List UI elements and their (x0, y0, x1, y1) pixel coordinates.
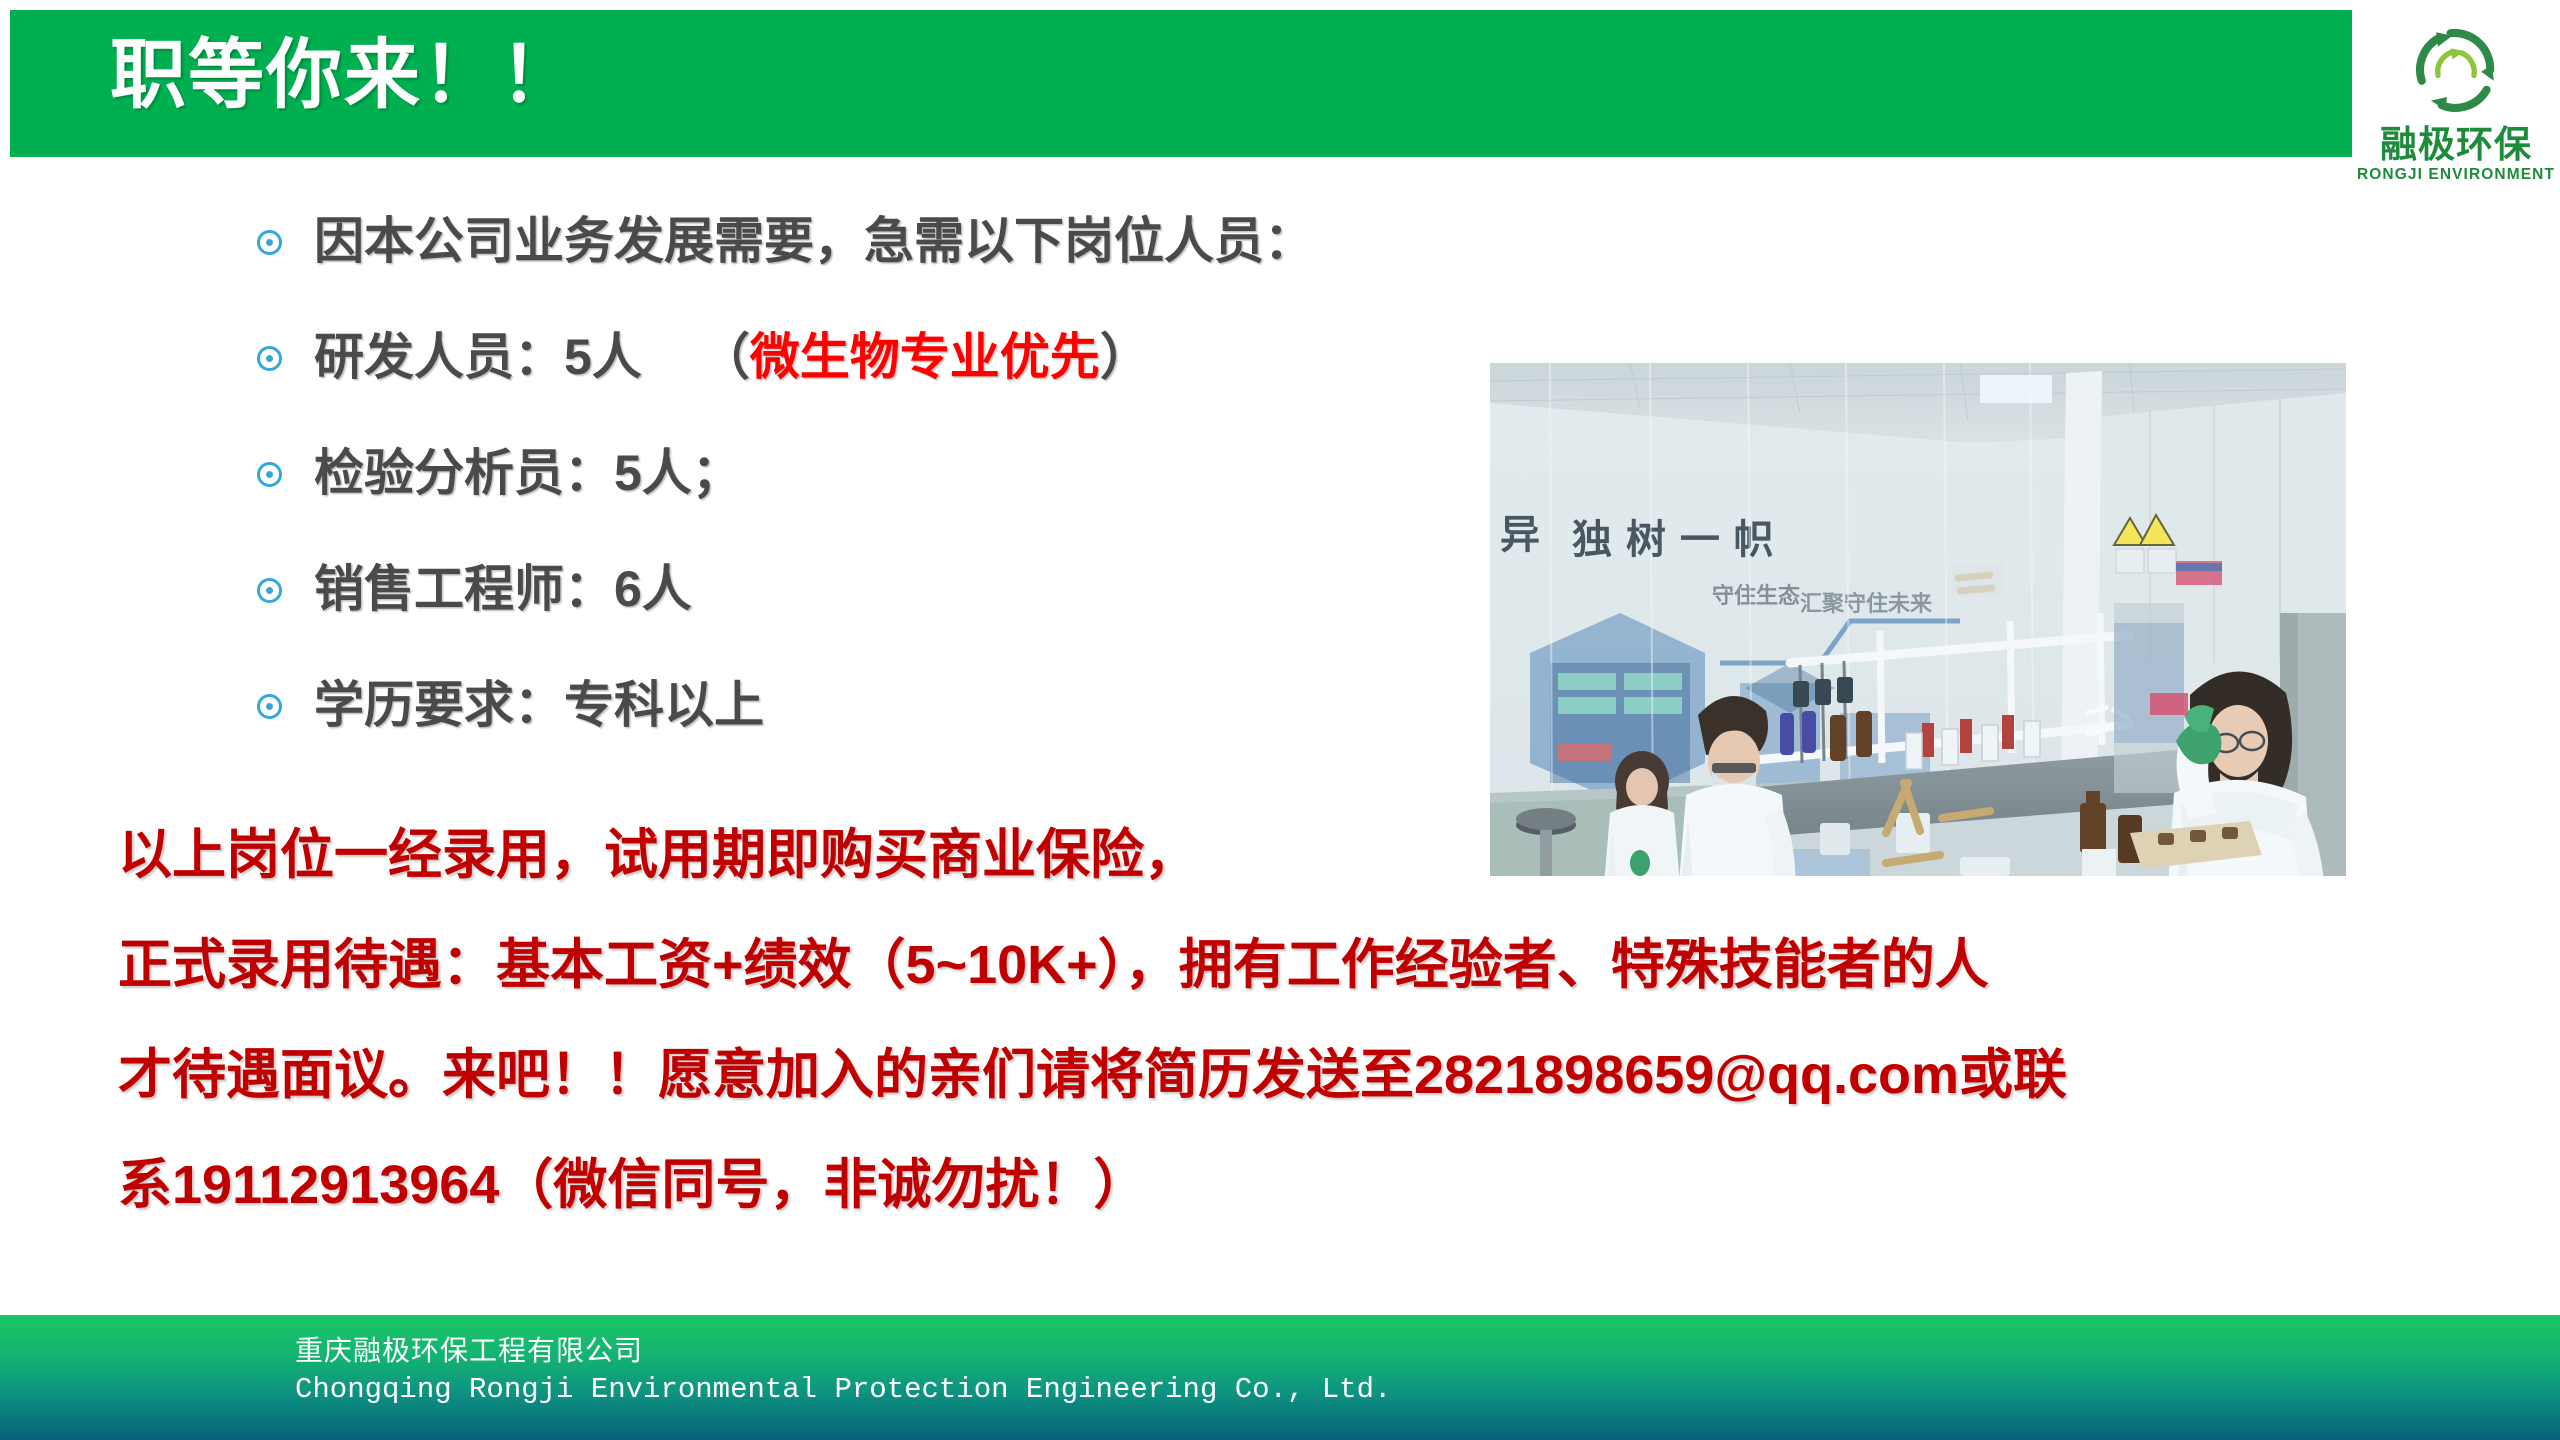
paren-open: （ (700, 329, 750, 385)
bullet-label: 研发人员：5人（微生物专业优先） (314, 329, 1150, 385)
bullet-label: 学历要求：专科以上 (314, 677, 764, 733)
bullet-label-main: 研发人员：5人 (314, 329, 642, 385)
logo-name-cn: 融极环保 (2380, 126, 2532, 163)
company-logo: 融极环保 RONGJI ENVIRONMENT (2352, 8, 2560, 198)
circle-dot-bullet-icon (250, 452, 292, 494)
footer-band: 重庆融极环保工程有限公司 Chongqing Rongji Environmen… (0, 1315, 2560, 1440)
list-item: 因本公司业务发展需要，急需以下岗位人员： (250, 205, 1550, 277)
bullet-label: 检验分析员：5人； (314, 445, 742, 501)
list-item: 检验分析员：5人； (250, 437, 1550, 509)
circle-dot-bullet-icon (250, 220, 292, 262)
paren-close: ） (1100, 329, 1150, 385)
circle-dot-bullet-icon (250, 684, 292, 726)
recruitment-notice: 以上岗位一经录用，试用期即购买商业保险， 正式录用待遇：基本工资+绩效（5~10… (118, 800, 2478, 1240)
notice-line: 正式录用待遇：基本工资+绩效（5~10K+），拥有工作经验者、特殊技能者的人 (118, 910, 2478, 1020)
footer-company-en: Chongqing Rongji Environmental Protectio… (295, 1369, 1391, 1411)
slide-root: 职等你来！！ 融极环保 (0, 0, 2560, 1440)
circle-dot-bullet-icon (250, 336, 292, 378)
notice-line: 以上岗位一经录用，试用期即购买商业保险， (118, 800, 2478, 910)
recycle-circle-logo-icon (2402, 16, 2510, 124)
footer-company-block: 重庆融极环保工程有限公司 Chongqing Rongji Environmen… (295, 1333, 1391, 1411)
notice-line: 才待遇面议。来吧！！愿意加入的亲们请将简历发送至2821898659@qq.co… (118, 1020, 2478, 1130)
footer-company-cn: 重庆融极环保工程有限公司 (295, 1333, 1391, 1369)
list-item: 销售工程师：6人 (250, 553, 1550, 625)
circle-dot-bullet-icon (250, 568, 292, 610)
logo-name-en: RONGJI ENVIRONMENT (2357, 167, 2555, 183)
notice-line: 系19112913964（微信同号，非诚勿扰！） (118, 1130, 2478, 1240)
bullet-label: 销售工程师：6人 (314, 561, 692, 617)
list-item: 研发人员：5人（微生物专业优先） (250, 321, 1550, 393)
job-bullet-list: 因本公司业务发展需要，急需以下岗位人员： 研发人员：5人（微生物专业优先） 检验… (250, 205, 1550, 785)
page-title: 职等你来！！ (110, 28, 578, 123)
list-item: 学历要求：专科以上 (250, 669, 1550, 741)
bullet-label: 因本公司业务发展需要，急需以下岗位人员： (314, 213, 1314, 269)
bullet-highlight: 微生物专业优先 (750, 329, 1100, 385)
